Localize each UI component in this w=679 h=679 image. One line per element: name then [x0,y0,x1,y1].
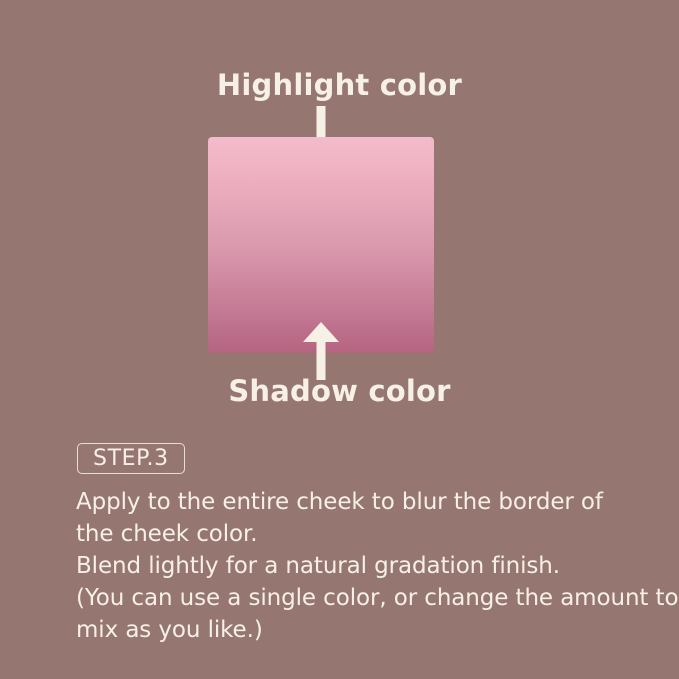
step-badge-label: STEP.3 [93,448,169,470]
instruction-text-block: Apply to the entire cheek to blur the bo… [76,486,636,646]
highlight-color-label: Highlight color [0,70,679,102]
step-badge: STEP.3 [77,443,185,474]
gradient-color-swatch [208,137,434,353]
product-instruction-card: Highlight color Shadow color STEP.3 Appl… [0,0,679,679]
instruction-line: Blend lightly for a natural gradation fi… [76,550,636,582]
instruction-line: mix as you like.) [76,614,636,646]
instruction-line: Apply to the entire cheek to blur the bo… [76,486,636,518]
instruction-line: the cheek color. [76,518,636,550]
shadow-color-label: Shadow color [0,376,679,408]
instruction-line: (You can use a single color, or change t… [76,582,636,614]
